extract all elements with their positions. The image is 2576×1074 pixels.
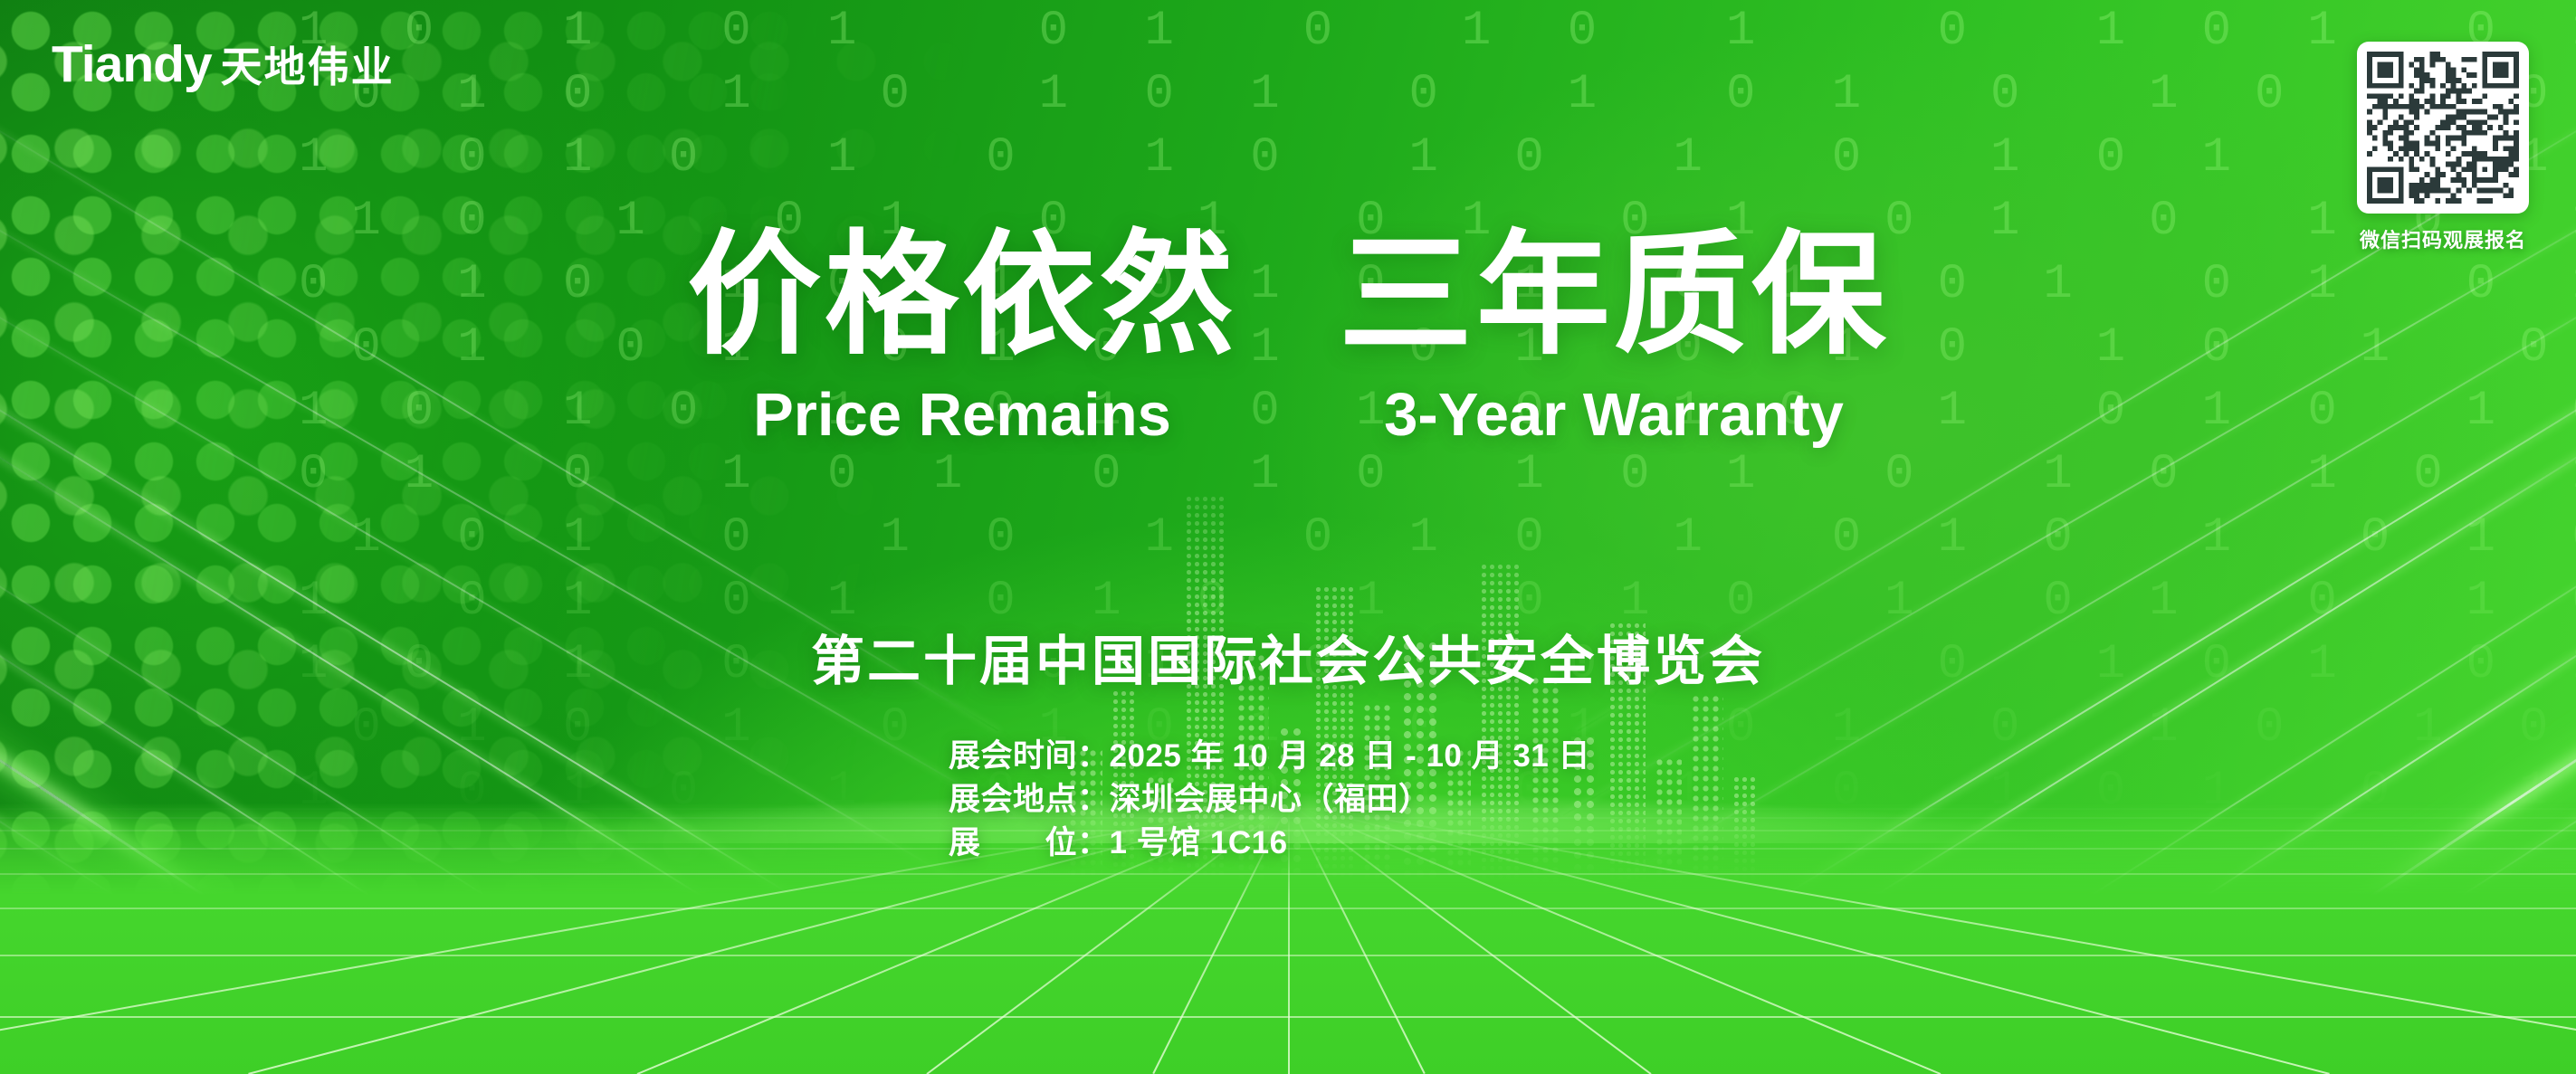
expo-detail-value: 1 号馆 1C16 — [1110, 825, 1288, 860]
expo-detail-row: 展会时间：2025 年 10 月 28 日 - 10 月 31 日 — [949, 735, 1590, 778]
expo-detail-row: 展 位：1 号馆 1C16 — [949, 822, 1590, 865]
promo-banner: 1 0 1 0 1 0 1 0 1 0 1 0 1 0 1 0 1 0 1 0 … — [0, 0, 2576, 1074]
expo-detail-value: 2025 年 10 月 28 日 - 10 月 31 日 — [1110, 738, 1590, 774]
headline-right-chinese: 三年质保 — [1339, 228, 1889, 365]
brand-logo-latin: Tiandy — [52, 39, 212, 90]
expo-detail-label: 展会时间： — [949, 738, 1110, 774]
expo-detail-label: 展会地点： — [949, 782, 1110, 817]
headline-group: 价格依然 Price Remains 三年质保 3-Year Warranty — [0, 228, 2576, 445]
qr-code-icon[interactable] — [2357, 42, 2529, 214]
headline-left-english: Price Remains — [753, 385, 1171, 445]
expo-detail-value: 深圳会展中心（福田） — [1110, 782, 1431, 817]
headline-left-chinese: 价格依然 — [687, 228, 1237, 365]
qr-code-svg — [2367, 52, 2519, 204]
expo-detail-label: 展 位： — [949, 825, 1110, 860]
headline-right-english: 3-Year Warranty — [1384, 385, 1844, 445]
headline-left: 价格依然 Price Remains — [687, 228, 1237, 445]
brand-logo-chinese: 天地伟业 — [221, 46, 395, 88]
brand-logo[interactable]: Tiandy 天地伟业 — [52, 39, 395, 90]
expo-detail-row: 展会地点：深圳会展中心（福田） — [949, 778, 1590, 822]
headline-right: 三年质保 3-Year Warranty — [1339, 228, 1889, 445]
expo-details: 展会时间：2025 年 10 月 28 日 - 10 月 31 日展会地点：深圳… — [949, 735, 1590, 865]
qr-registration-block[interactable]: 微信扫码观展报名 — [2357, 42, 2529, 253]
qr-caption: 微信扫码观展报名 — [2360, 224, 2526, 253]
expo-title: 第二十届中国国际社会公共安全博览会 — [0, 618, 2576, 695]
